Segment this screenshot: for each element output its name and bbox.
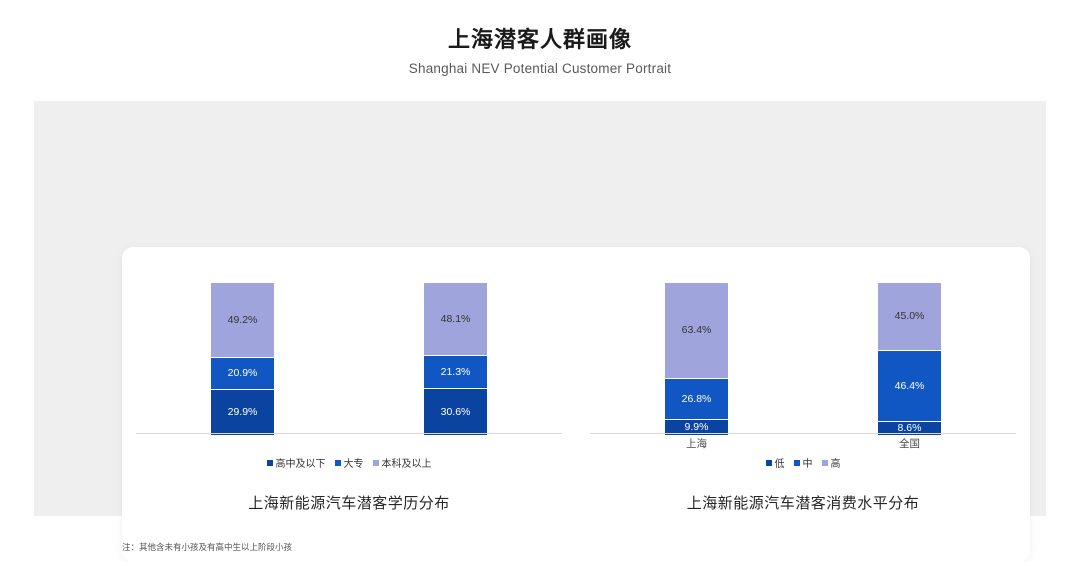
- chart-legend: 高中及以下大专本科及以上: [122, 455, 576, 470]
- page-header: 上海潜客人群画像 Shanghai NEV Potential Customer…: [0, 0, 1080, 76]
- legend-item[interactable]: 高: [822, 455, 841, 470]
- axis-line: [590, 433, 1016, 434]
- bar-group: 63.4%26.8%9.9%45.0%46.4%8.6%: [590, 283, 1016, 435]
- legend-label: 高中及以下: [276, 455, 326, 470]
- bar-column: 49.2%20.9%29.9%: [211, 283, 274, 435]
- axis-line: [136, 433, 562, 434]
- chart-caption: 上海新能源汽车潜客消费水平分布: [576, 492, 1030, 513]
- bar-segment: 21.3%: [424, 356, 487, 388]
- legend-label: 低: [775, 455, 785, 470]
- legend-swatch-icon: [267, 460, 273, 466]
- bar-segment: 30.6%: [424, 389, 487, 436]
- bar-segment: 20.9%: [211, 358, 274, 390]
- legend-item[interactable]: 中: [794, 455, 813, 470]
- chart-consumption-level-distribution: 63.4%26.8%9.9%45.0%46.4%8.6% 上海全国 低中高 上海…: [576, 247, 1030, 562]
- plot-area: 63.4%26.8%9.9%45.0%46.4%8.6%: [590, 283, 1016, 435]
- category-label-row: [136, 436, 562, 452]
- chart-education-distribution: 49.2%20.9%29.9%48.1%21.3%30.6% 高中及以下大专本科…: [122, 247, 576, 562]
- bar-segment: 63.4%: [665, 283, 728, 379]
- category-label: [211, 436, 274, 452]
- legend-item[interactable]: 低: [766, 455, 785, 470]
- legend-swatch-icon: [822, 460, 828, 466]
- bar-segment-label: 29.9%: [228, 407, 258, 418]
- bar-segment-label: 30.6%: [441, 407, 471, 418]
- bar-segment-label: 45.0%: [895, 311, 925, 322]
- page-subtitle: Shanghai NEV Potential Customer Portrait: [0, 55, 1080, 76]
- legend-item[interactable]: 大专: [335, 455, 364, 470]
- page-title: 上海潜客人群画像: [0, 0, 1080, 55]
- legend-swatch-icon: [335, 460, 341, 466]
- bar-segment: 26.8%: [665, 379, 728, 420]
- legend-swatch-icon: [766, 460, 772, 466]
- bar-segment-label: 26.8%: [682, 394, 712, 405]
- bar-column: 48.1%21.3%30.6%: [424, 283, 487, 435]
- plot-area: 49.2%20.9%29.9%48.1%21.3%30.6%: [136, 283, 562, 435]
- bar-segment-label: 21.3%: [441, 367, 471, 378]
- legend-label: 中: [803, 455, 813, 470]
- chart-legend: 低中高: [576, 455, 1030, 470]
- bar-segment: 49.2%: [211, 283, 274, 358]
- charts-row: 49.2%20.9%29.9%48.1%21.3%30.6% 高中及以下大专本科…: [122, 247, 1030, 562]
- category-label: 全国: [878, 436, 941, 452]
- bar-segment: 48.1%: [424, 283, 487, 356]
- footnote: 注：其他含未有小孩及有高中生以上阶段小孩: [122, 541, 292, 553]
- legend-swatch-icon: [373, 460, 379, 466]
- bar-segment-label: 46.4%: [895, 381, 925, 392]
- bar-column: 63.4%26.8%9.9%: [665, 283, 728, 435]
- bar-segment-label: 9.9%: [685, 422, 709, 433]
- bar-segment: 45.0%: [878, 283, 941, 351]
- category-label: [424, 436, 487, 452]
- legend-label: 大专: [344, 455, 364, 470]
- chart-caption: 上海新能源汽车潜客学历分布: [122, 492, 576, 513]
- category-label: 上海: [665, 436, 728, 452]
- bar-segment-label: 49.2%: [228, 315, 258, 326]
- legend-label: 本科及以上: [382, 455, 432, 470]
- bar-segment: 29.9%: [211, 390, 274, 435]
- charts-card: 49.2%20.9%29.9%48.1%21.3%30.6% 高中及以下大专本科…: [122, 247, 1030, 562]
- content-panel: 49.2%20.9%29.9%48.1%21.3%30.6% 高中及以下大专本科…: [34, 101, 1046, 516]
- bar-segment: 46.4%: [878, 351, 941, 422]
- legend-item[interactable]: 高中及以下: [267, 455, 326, 470]
- legend-label: 高: [831, 455, 841, 470]
- bar-segment-label: 63.4%: [682, 325, 712, 336]
- category-label-row: 上海全国: [590, 436, 1016, 452]
- bar-segment-label: 48.1%: [441, 314, 471, 325]
- bar-group: 49.2%20.9%29.9%48.1%21.3%30.6%: [136, 283, 562, 435]
- legend-swatch-icon: [794, 460, 800, 466]
- bar-segment-label: 20.9%: [228, 368, 258, 379]
- bar-column: 45.0%46.4%8.6%: [878, 283, 941, 435]
- legend-item[interactable]: 本科及以上: [373, 455, 432, 470]
